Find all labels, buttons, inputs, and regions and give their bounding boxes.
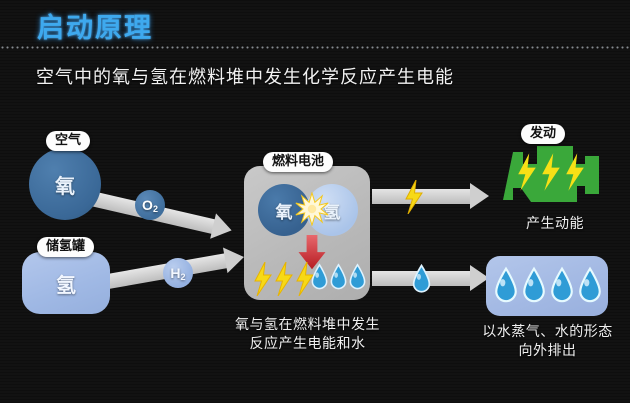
slide-canvas: 启动原理 空气中的氧与氢在燃料堆中发生化学反应产生电能 空气 氧 储氢罐 氢 O…: [0, 0, 630, 403]
oxygen-circle-icon: 氧: [29, 148, 101, 220]
title-dotted-divider: [0, 46, 630, 49]
water-drop-icon: [329, 262, 348, 293]
arrow-head: [470, 183, 489, 209]
fuel-cell-badge: 燃料电池: [263, 152, 333, 172]
hydrogen-molecule-label: H2: [170, 265, 185, 282]
hydrogen-label: 氢: [22, 252, 110, 314]
fuel-cell-energy-group: [253, 262, 315, 296]
hydrogen-molecule-marker: H2: [163, 258, 193, 288]
water-drop-icon: [310, 262, 329, 293]
oxygen-molecule-label: O2: [142, 197, 158, 214]
lightning-bolt-icon: [253, 262, 273, 296]
spark-burst-icon: [295, 192, 329, 226]
water-drop-icon: [521, 265, 547, 307]
page-title: 启动原理: [37, 15, 153, 42]
water-drop-icon: [577, 265, 603, 307]
oxygen-molecule-marker: O2: [135, 190, 165, 220]
lightning-bolt-icon: [540, 152, 562, 192]
water-output-caption: 以水蒸气、水的形态向外排出: [455, 322, 630, 360]
hydrogen-tank-badge: 储氢罐: [37, 237, 94, 257]
page-subtitle: 空气中的氧与氢在燃料堆中发生化学反应产生电能: [36, 63, 454, 89]
fuel-cell-water-group: [310, 262, 367, 293]
engine-energy-group: [516, 152, 586, 192]
water-drop-icon: [549, 265, 575, 307]
lightning-bolt-icon: [274, 262, 294, 296]
lightning-bolt-icon: [404, 180, 424, 214]
lightning-bolt-icon: [516, 152, 538, 192]
air-source-badge: 空气: [46, 131, 90, 151]
oxygen-label: 氧: [29, 148, 101, 220]
engine-badge: 发动: [521, 124, 565, 144]
hydrogen-tank-icon: 氢: [22, 252, 110, 314]
water-drop-icon: [493, 265, 519, 307]
water-drop-icon: [348, 262, 367, 293]
arrow-head: [210, 213, 234, 243]
arrow-head: [223, 244, 246, 273]
engine-caption: 产生动能: [460, 214, 630, 233]
water-drop-icon: [411, 263, 432, 296]
fuel-cell-caption: 氧与氢在燃料堆中发生反应产生电能和水: [200, 315, 415, 353]
water-output-drop-group: [493, 265, 603, 307]
lightning-bolt-icon: [564, 152, 586, 192]
